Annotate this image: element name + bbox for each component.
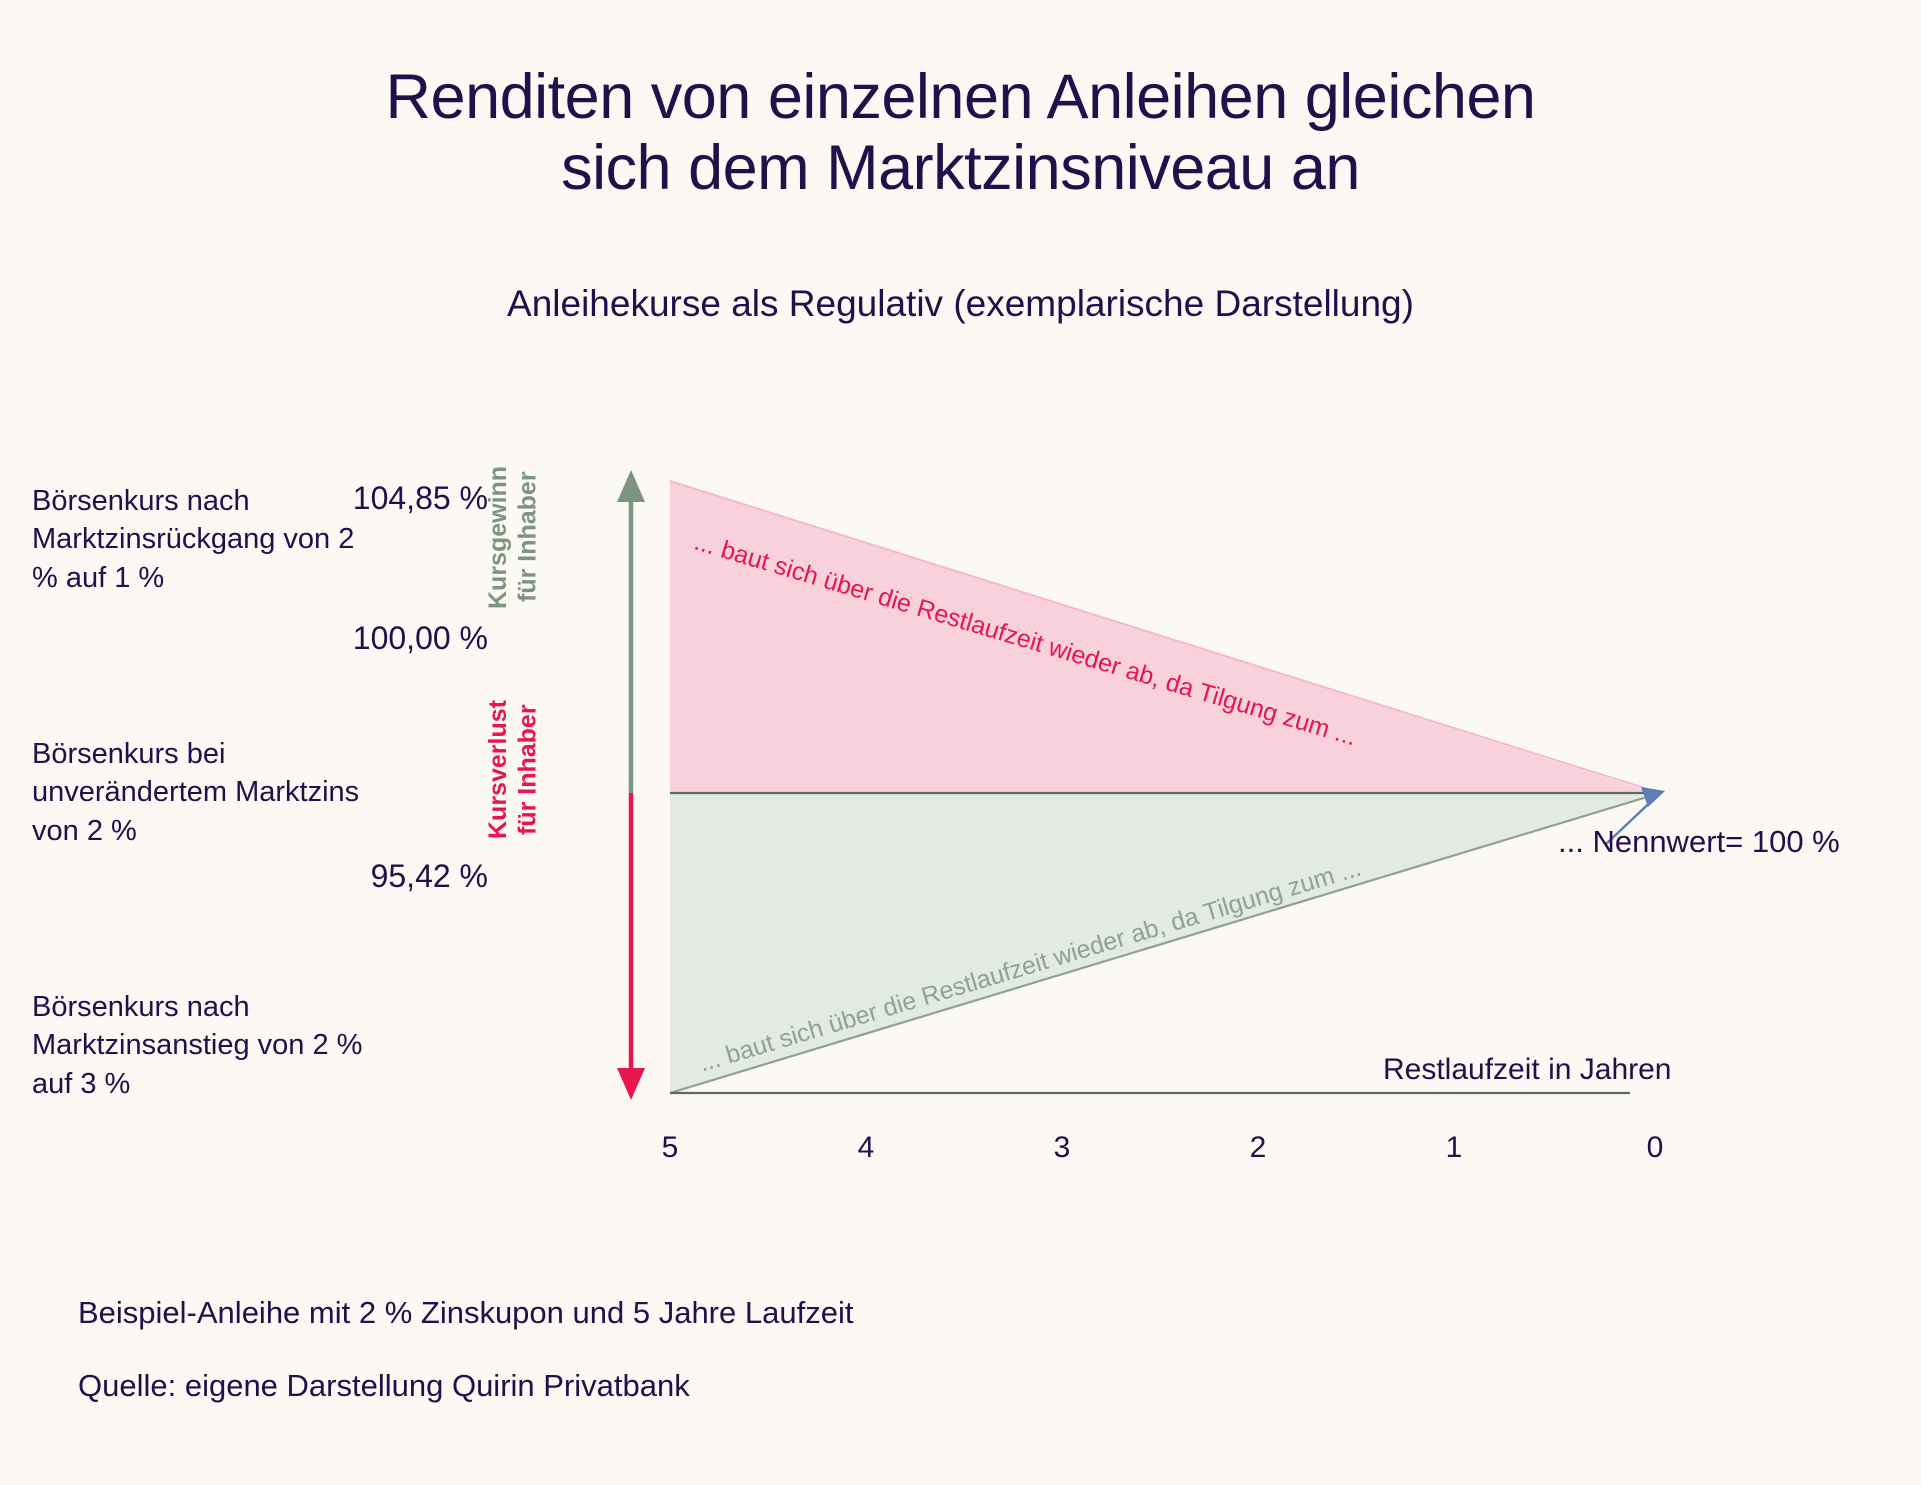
x-tick-1: 1 xyxy=(1414,1131,1494,1165)
loss-area-triangle xyxy=(670,793,1655,1093)
gain-bracket-arrow-head-icon xyxy=(617,470,645,502)
apex-arrow-head-icon xyxy=(1641,787,1665,807)
loss-bracket-arrow-head-icon xyxy=(617,1068,645,1100)
page-subtitle: Anleihekurse als Regulativ (exemplarisch… xyxy=(0,283,1921,325)
value-label-bottom: 95,42 % xyxy=(278,858,488,895)
value-label-mid: 100,00 % xyxy=(278,620,488,657)
annotation-loss-decay: ... baut sich über die Restlaufzeit wied… xyxy=(696,854,1365,1079)
loss-price-line xyxy=(670,793,1660,1093)
annotation-gain-decay: ... baut sich über die Restlaufzeit wied… xyxy=(691,528,1360,753)
x-tick-0: 0 xyxy=(1615,1131,1695,1165)
footnote-source: Quelle: eigene Darstellung Quirin Privat… xyxy=(78,1368,690,1404)
x-axis-title: Restlaufzeit in Jahren xyxy=(1383,1053,1672,1087)
bracket-label-loss: Kursverlust für Inhaber xyxy=(484,690,543,850)
bracket-label-gain: Kursgewinn für Inhaber xyxy=(484,452,543,622)
value-label-top: 104,85 % xyxy=(278,480,488,517)
side-label-rate-unchanged: Börsenkurs bei unverändertem Marktzins v… xyxy=(32,735,382,850)
gain-area-triangle xyxy=(670,481,1655,793)
side-label-rate-rise: Börsenkurs nach Marktzinsanstieg von 2 %… xyxy=(32,988,382,1103)
x-tick-5: 5 xyxy=(630,1131,710,1165)
title-line-1: Renditen von einzelnen Anleihen gleichen xyxy=(0,62,1921,133)
x-tick-3: 3 xyxy=(1022,1131,1102,1165)
x-tick-2: 2 xyxy=(1218,1131,1298,1165)
footnote-example: Beispiel-Anleihe mit 2 % Zinskupon und 5… xyxy=(78,1295,853,1331)
page-title: Renditen von einzelnen Anleihen gleichen… xyxy=(0,62,1921,203)
x-tick-4: 4 xyxy=(826,1131,906,1165)
title-line-2: sich dem Marktzinsniveau an xyxy=(0,133,1921,204)
gain-price-line xyxy=(670,481,1660,793)
annotation-nennwert: ... Nennwert= 100 % xyxy=(1558,824,1840,860)
